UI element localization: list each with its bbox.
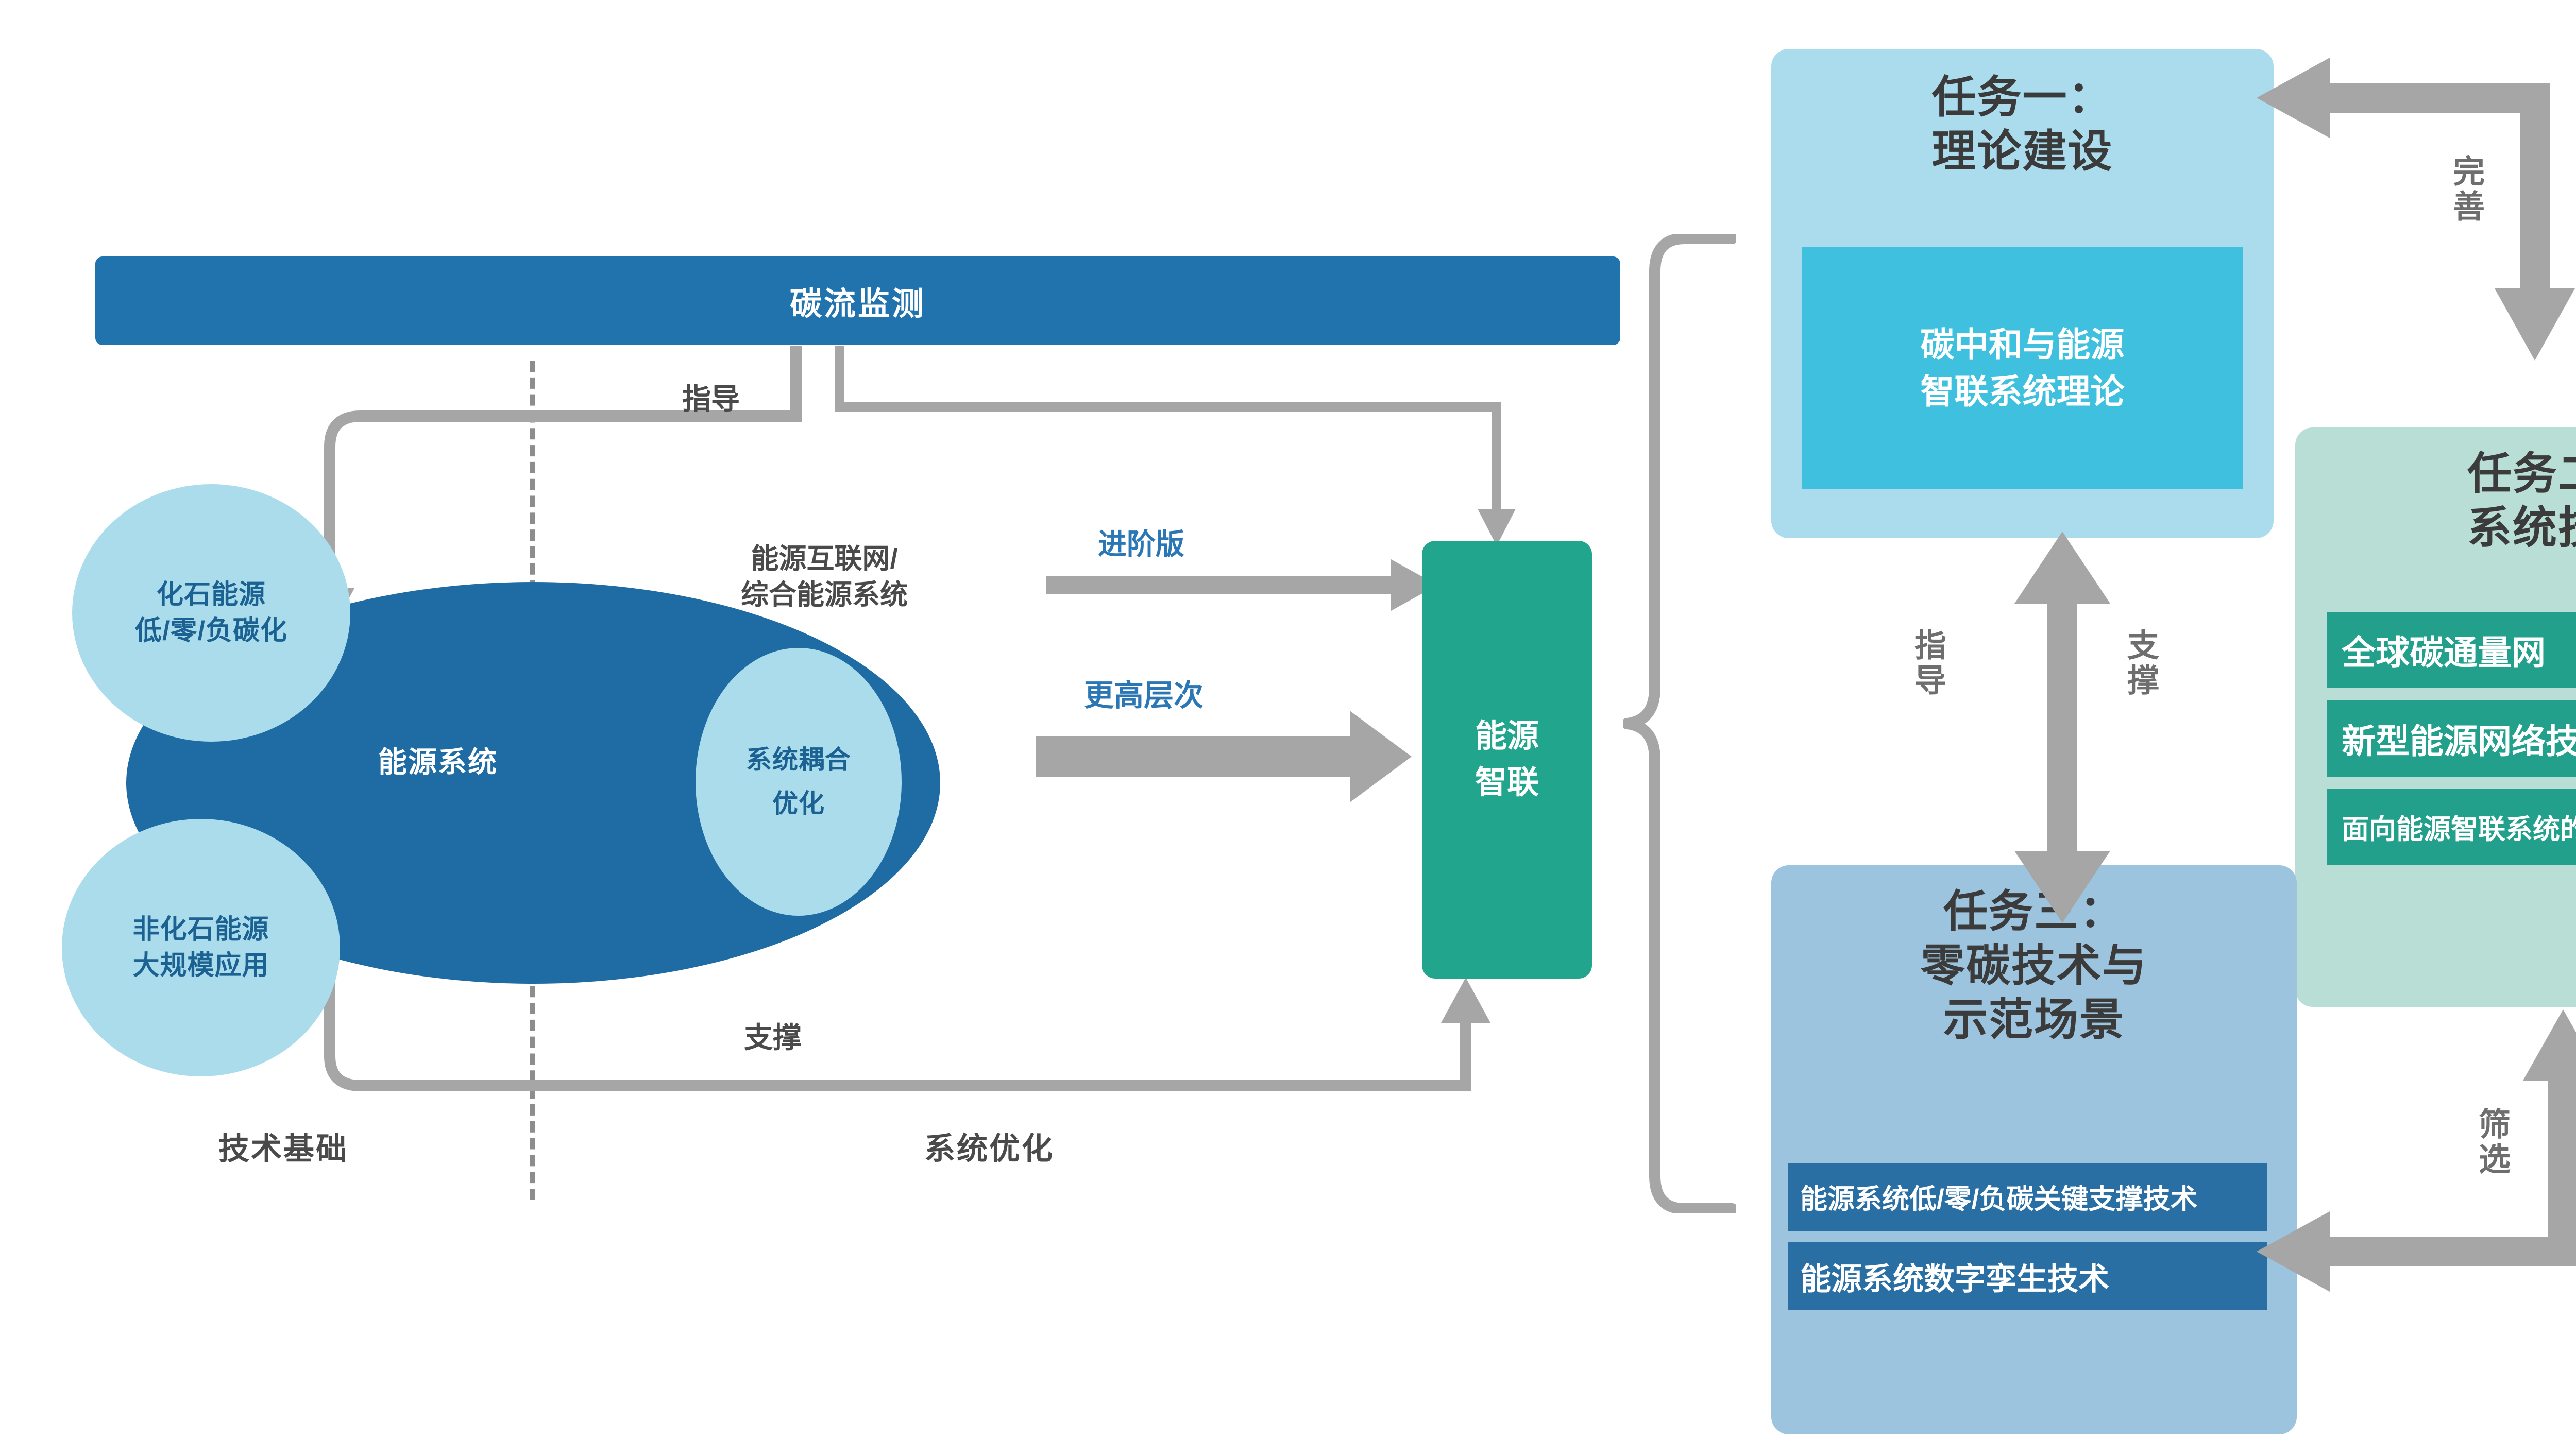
label-guide-t1-t3: 指导 <box>1904 628 1950 698</box>
circle-nonfossil-line2: 大规模应用 <box>132 948 269 984</box>
label-support-bottom: 支撑 <box>706 1015 840 1056</box>
label-system-optimization: 系统优化 <box>866 1123 1113 1169</box>
circle-fossil-energy: 化石能源 低/零/负碳化 <box>72 484 350 742</box>
circle-coupling-line1: 系统耦合 <box>746 738 851 782</box>
label-energy-internet-line1: 能源互联网/ <box>751 541 897 577</box>
energy-smart-link-box: 能源 智联 <box>1422 541 1592 979</box>
label-advanced-version: 进阶版 <box>1054 521 1229 562</box>
curly-brace-connector <box>1623 234 1736 1213</box>
circle-nonfossil-line1: 非化石能源 <box>132 912 269 948</box>
circle-nonfossil-energy: 非化石能源 大规模应用 <box>62 819 340 1076</box>
label-filter: 筛选 <box>2468 1107 2514 1177</box>
energy-system-label: 能源系统 <box>319 736 556 783</box>
label-improve: 完善 <box>2442 155 2488 225</box>
diagram-canvas: 碳流监测 能源系统 化石能源 低/零/负碳化 非化石能源 大规模应用 系统 <box>0 0 2576 1456</box>
circle-fossil-line1: 化石能源 <box>157 577 266 613</box>
label-tech-base: 技术基础 <box>175 1123 392 1169</box>
circle-coupling-line2: 优化 <box>772 782 825 826</box>
energy-link-line2: 智联 <box>1475 760 1539 806</box>
label-energy-internet: 能源互联网/ 综合能源系统 <box>665 528 984 626</box>
label-higher-level: 更高层次 <box>1041 672 1247 713</box>
energy-link-line1: 能源 <box>1475 713 1539 760</box>
energy-system-text: 能源系统 <box>378 739 498 781</box>
label-integrated-energy-line2: 综合能源系统 <box>741 577 908 613</box>
circle-fossil-line2: 低/零/负碳化 <box>135 613 287 649</box>
circle-system-coupling-optimization: 系统耦合 优化 <box>696 648 902 916</box>
label-guide-top: 指导 <box>644 376 778 417</box>
label-support-t1-t3: 支撑 <box>2116 628 2163 698</box>
